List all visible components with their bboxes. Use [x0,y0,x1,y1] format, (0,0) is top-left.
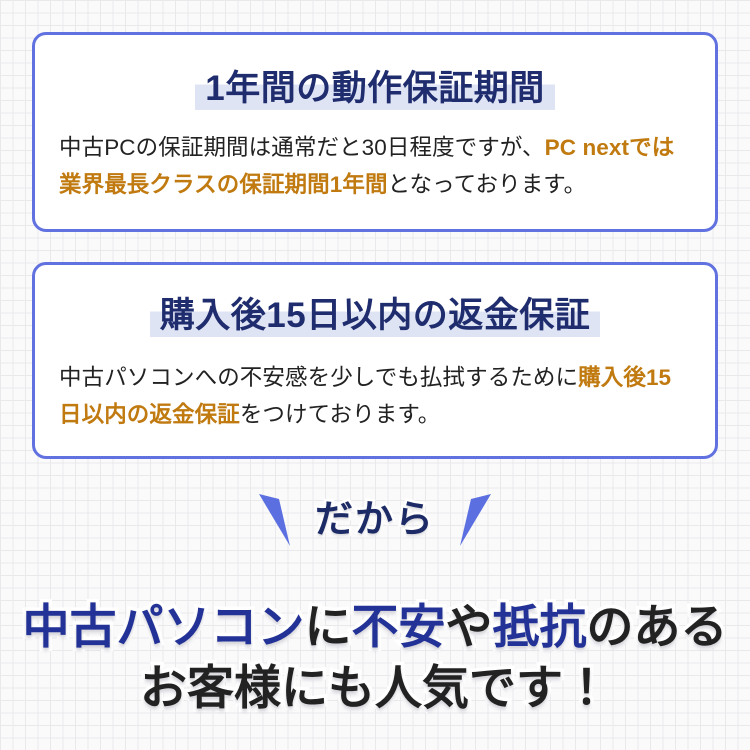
dakara-block: だから [0,484,750,556]
text-run-dark: に [305,600,352,653]
card-title-warranty: 1年間の動作保証期間 [195,69,554,110]
text-run-dark: のある [587,600,728,653]
card-body-refund: 中古パソコンへの不安感を少しでも払拭するために購入後15日以内の返金保証をつけて… [35,339,715,433]
card-body-warranty: 中古PCの保証期間は通常だと30日程度ですが、PC nextでは業界最長クラスの… [35,112,715,203]
text-run-blue: 抵抗 [493,600,587,653]
card-title-refund: 購入後15日以内の返金保証 [150,296,600,337]
text-run-orange: PC next [545,135,629,160]
warranty-card: 1年間の動作保証期間 中古PCの保証期間は通常だと30日程度ですが、PC nex… [32,32,718,232]
right-slash-wedge-icon [457,491,491,549]
text-run-dark: や [446,600,493,653]
refund-card: 購入後15日以内の返金保証 中古パソコンへの不安感を少しでも払拭するために購入後… [32,262,718,459]
card-title-row: 1年間の動作保証期間 [35,35,715,112]
text-run-blue: 不安 [352,600,446,653]
text-run-normal: 中古PCの保証期間は通常だと30日程度ですが、 [59,135,545,160]
card-title-row: 購入後15日以内の返金保証 [35,265,715,339]
page-headline: 中古パソコンに不安や抵抗のある お客様にも人気です！ [0,597,750,717]
headline-line-1: 中古パソコンに不安や抵抗のある [0,597,750,657]
left-slash-wedge-icon [259,491,293,549]
text-run-dark: お客様にも人気です！ [140,661,610,714]
text-run-blue: 中古パソコン [23,600,305,653]
text-run-normal: 中古パソコンへの不安感を少しでも払拭するために [59,365,578,390]
dakara-label: だから [315,501,435,539]
headline-line-2: お客様にも人気です！ [0,658,750,718]
text-run-normal: となっております。 [388,172,587,197]
text-run-normal: をつけております。 [240,402,440,427]
